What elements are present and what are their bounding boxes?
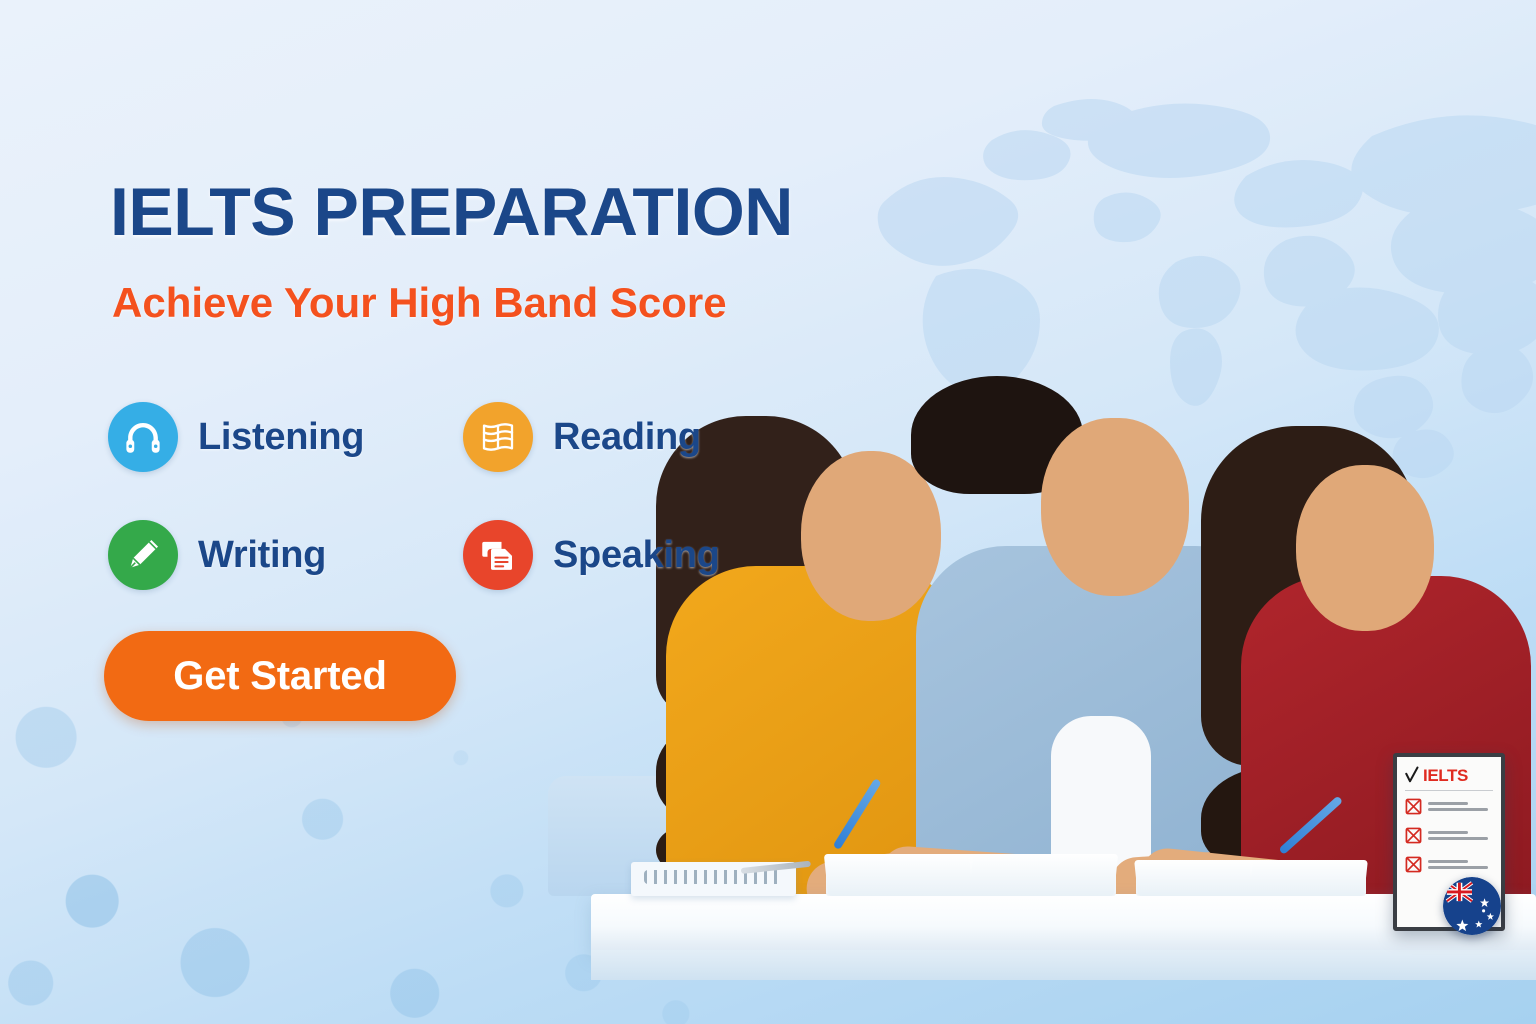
headphones-icon — [108, 402, 178, 472]
feature-listening[interactable]: Listening — [108, 402, 463, 472]
feature-writing[interactable]: Writing — [108, 520, 463, 590]
card-divider — [1405, 790, 1493, 791]
feature-label: Reading — [553, 416, 701, 459]
checklist-row[interactable] — [1405, 827, 1493, 844]
get-started-button[interactable]: Get Started — [104, 631, 456, 721]
open-book-icon — [463, 402, 533, 472]
crossed-checkbox-icon — [1405, 798, 1422, 815]
crossed-checkbox-icon — [1405, 856, 1422, 873]
speech-bubble-icon — [463, 520, 533, 590]
checklist-row[interactable] — [1405, 798, 1493, 815]
checklist-row[interactable] — [1405, 856, 1493, 873]
ielts-preparation-banner: IELTS PREPARATION Achieve Your High Band… — [0, 0, 1536, 1024]
feature-reading[interactable]: Reading — [463, 402, 793, 472]
card-title: IELTS — [1423, 767, 1468, 784]
page-subtitle: Achieve Your High Band Score — [112, 282, 727, 324]
checkmark-icon — [1405, 766, 1420, 784]
face — [1296, 465, 1434, 631]
checklist-text-lines — [1428, 831, 1493, 840]
open-book-center — [826, 854, 1116, 896]
crossed-checkbox-icon — [1405, 827, 1422, 844]
skills-list: Listening Reading — [108, 378, 793, 614]
feature-label: Speaking — [553, 534, 720, 577]
feature-speaking[interactable]: Speaking — [463, 520, 793, 590]
banner-content: IELTS PREPARATION Achieve Your High Band… — [0, 0, 820, 1024]
face — [1041, 418, 1189, 596]
checklist-text-lines — [1428, 860, 1493, 869]
feature-label: Writing — [198, 534, 326, 577]
page-title: IELTS PREPARATION — [110, 178, 793, 246]
pencil-icon — [108, 520, 178, 590]
open-book-right — [1136, 860, 1366, 896]
card-header: IELTS — [1405, 766, 1493, 784]
checklist-text-lines — [1428, 802, 1493, 811]
feature-label: Listening — [198, 416, 364, 459]
australia-flag-icon — [1443, 877, 1501, 935]
